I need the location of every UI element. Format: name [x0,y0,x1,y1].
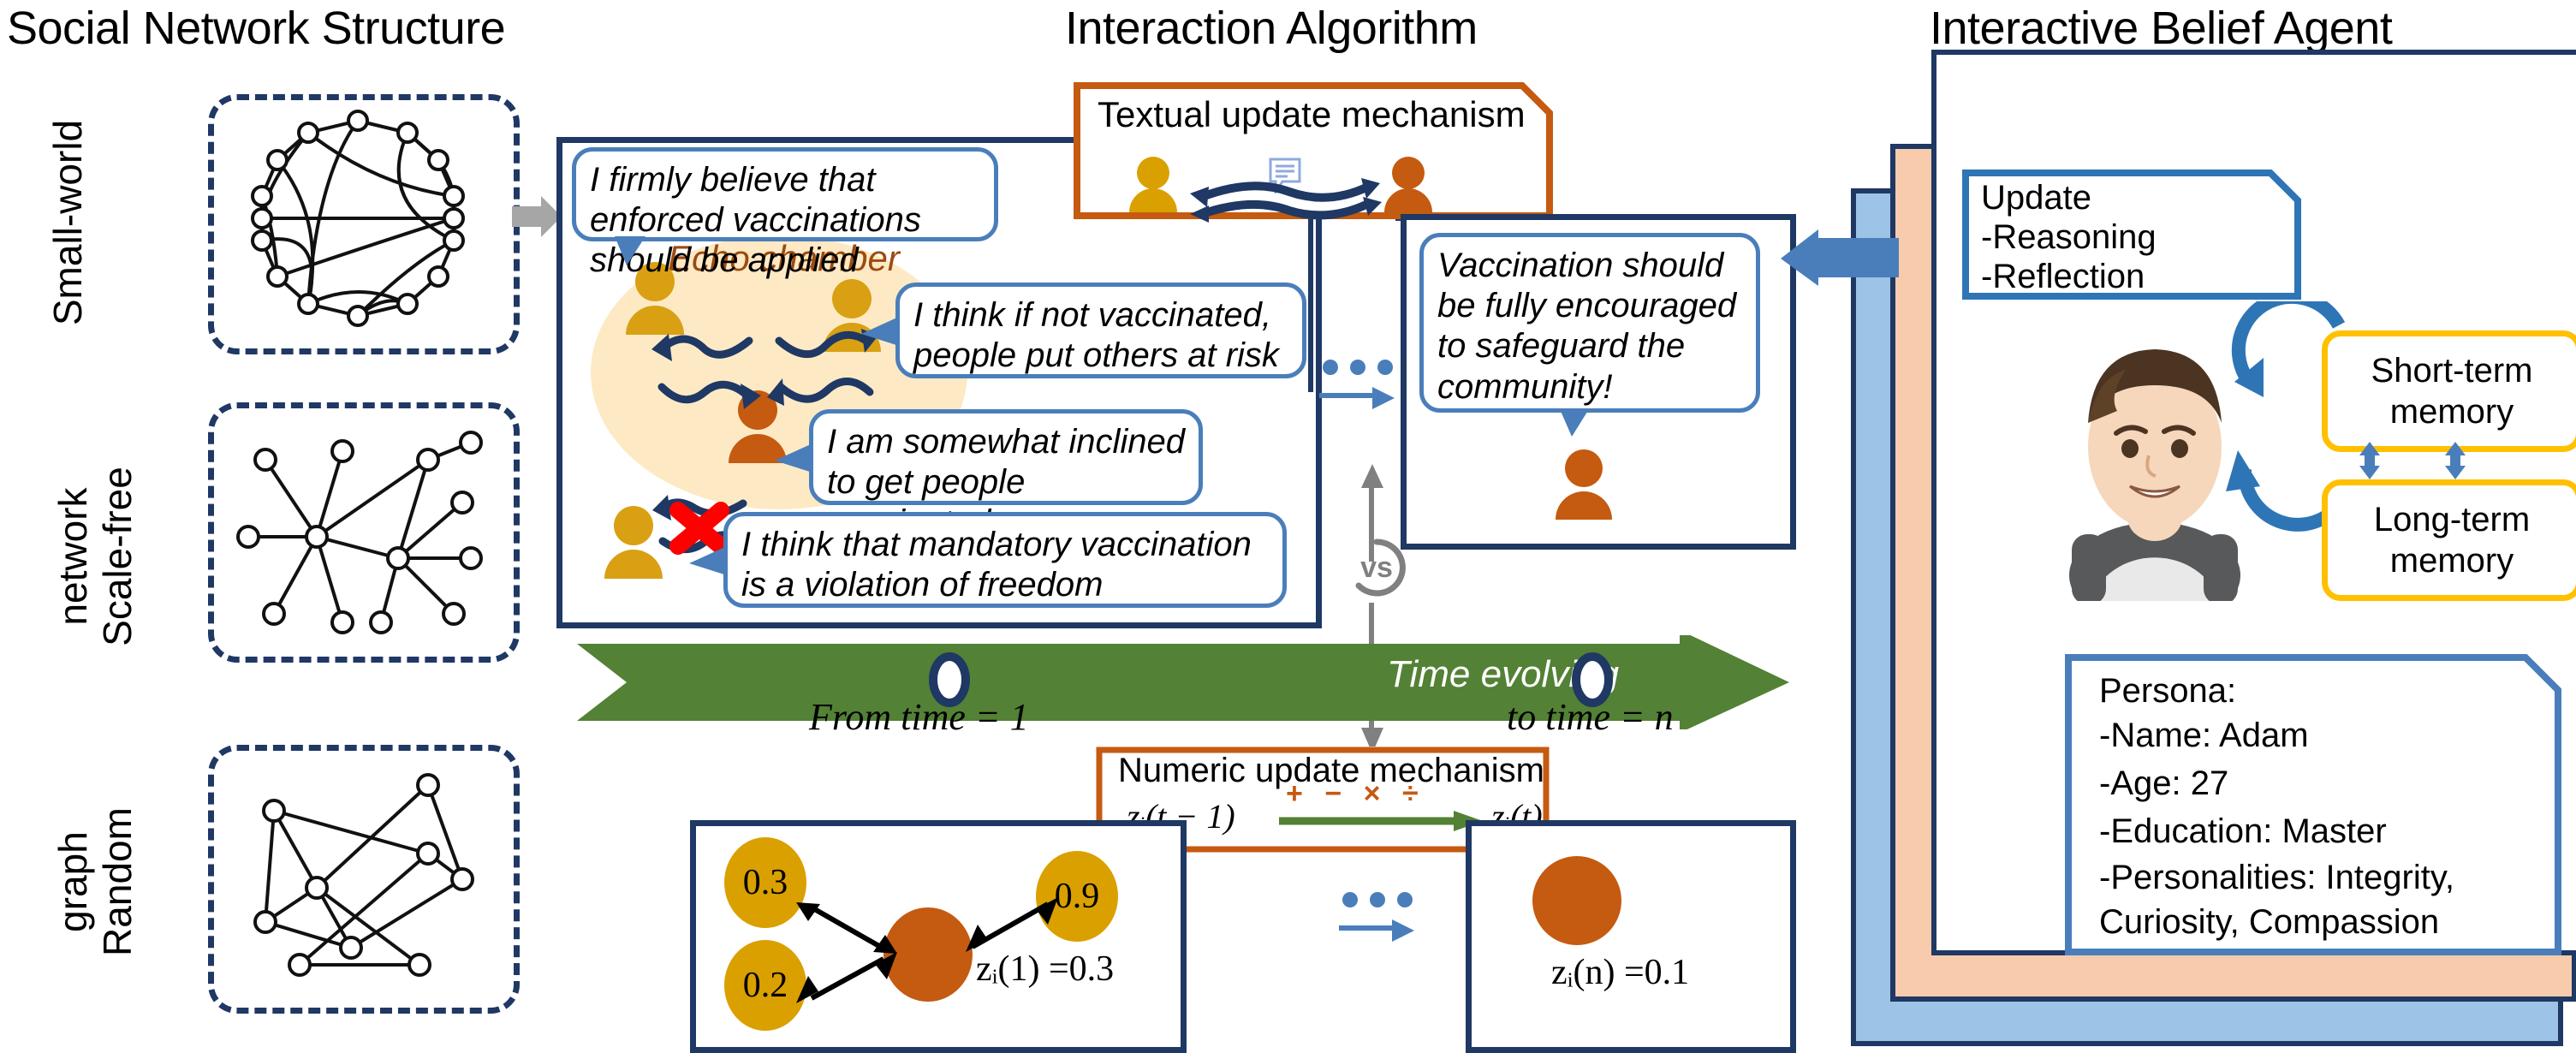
speech-bubble-5: Vaccination should be fully encouraged t… [1419,233,1760,413]
long-term-memory-box: Long-term memory [2322,479,2576,601]
persona-line3: -Age: 27 [2099,764,2228,804]
bidirectional-wave-arrows-icon [1183,176,1387,224]
speech-bubble-4: I think that mandatory vaccination is a … [723,512,1287,608]
flow-arrow-top [1319,384,1396,414]
time-to-label: to time = n [1507,695,1674,739]
network-label-scale-free-line2: network [50,402,96,711]
update-box: Update -Reasoning -Reflection [1962,170,2301,300]
vs-label: vs [1360,551,1393,585]
network-label-random-line1: Random [94,736,140,1027]
network-diagram-scale-free [208,402,520,663]
network-diagram-small-world [208,94,520,354]
network-diagram-random [208,745,520,1014]
vs-badge: vs [1347,538,1407,598]
bubble-tail-3 [773,442,814,476]
network-label-small-world: Small-world [45,94,91,351]
numeric-center-label-end: zᵢ(n) =0.1 [1551,952,1689,993]
yellow-person-icon [1125,156,1181,212]
bubble-tail-2 [860,315,901,349]
orange-person-icon [1380,156,1437,212]
long-term-memory-line1: Long-term [2374,499,2530,540]
update-box-line3: -Reflection [1981,257,2145,297]
red-x-icon [678,510,721,546]
textual-update-title: Textual update mechanism [1098,94,1526,135]
gray-arrow-icon [512,193,563,241]
update-box-line2: -Reasoning [1981,217,2157,258]
network-label-scale-free-line1: Scale-free [94,402,140,711]
network-label-random-line2: graph [50,736,96,1027]
numeric-edge-3 [796,949,899,1008]
persona-line6: Curiosity, Compassion [2099,902,2439,943]
update-box-line1: Update [1981,178,2091,218]
memory-link-arrows [2359,438,2496,483]
operator-times: × [1364,777,1388,810]
numeric-flow-arrow [1279,810,1484,832]
persona-line2: -Name: Adam [2099,716,2309,756]
textual-update-mechanism-box: Textual update mechanism [1074,82,1553,219]
network-label-scale-free: Scale-free network [17,394,120,753]
operator-minus: − [1324,777,1348,810]
scale-free-graph-svg [214,408,502,645]
short-term-memory-box: Short-term memory [2322,330,2576,452]
persona-box: Persona: -Name: Adam -Age: 27 -Education… [2065,654,2561,955]
person-icon-final-orange [1551,449,1616,520]
numeric-neighbor-node-1: 0.3 [724,837,806,928]
agent-to-interaction-arrow [1779,229,1901,289]
speech-bubble-3: I am somewhat inclined to get people vac… [809,409,1203,505]
connector-line-left [1308,195,1313,392]
numeric-operators: + − × ÷ [1286,777,1425,811]
bubble-tail-5 [1560,409,1594,440]
page-title-middle: Interaction Algorithm [1065,2,1478,55]
operator-divide: ÷ [1402,777,1425,810]
numeric-edge-2 [966,892,1060,957]
numeric-end-panel [1466,820,1796,1053]
small-world-graph-svg [214,100,502,336]
speech-bubble-2: I think if not vaccinated, people put ot… [895,283,1306,378]
short-term-memory-line2: memory [2390,391,2514,432]
random-graph-svg [214,751,502,996]
bubble-tail-1 [615,236,649,271]
numeric-center-node-end [1532,856,1621,945]
speech-bubble-1: I firmly believe that enforced vaccinati… [572,147,998,241]
ellipsis-top [1323,360,1393,375]
persona-line1: Persona: [2099,671,2236,711]
ellipsis-bottom [1342,892,1413,907]
operator-plus: + [1286,777,1310,810]
bubble-tail-4 [687,544,729,579]
network-label-random: Random graph [17,745,120,1053]
long-term-memory-line2: memory [2390,540,2514,581]
short-term-memory-line1: Short-term [2371,350,2533,391]
flow-arrow-bottom [1339,916,1416,947]
exchange-arrows-left-icon [646,325,766,437]
persona-line4: -Education: Master [2099,812,2387,852]
page-title-left: Social Network Structure [7,2,505,55]
persona-line5: -Personalities: Integrity, [2099,858,2454,898]
time-from-label: From time = 1 [809,695,1029,739]
page-title-right: Interactive Belief Agent [1930,2,2392,55]
numeric-neighbor-node-3: 0.2 [724,940,806,1031]
